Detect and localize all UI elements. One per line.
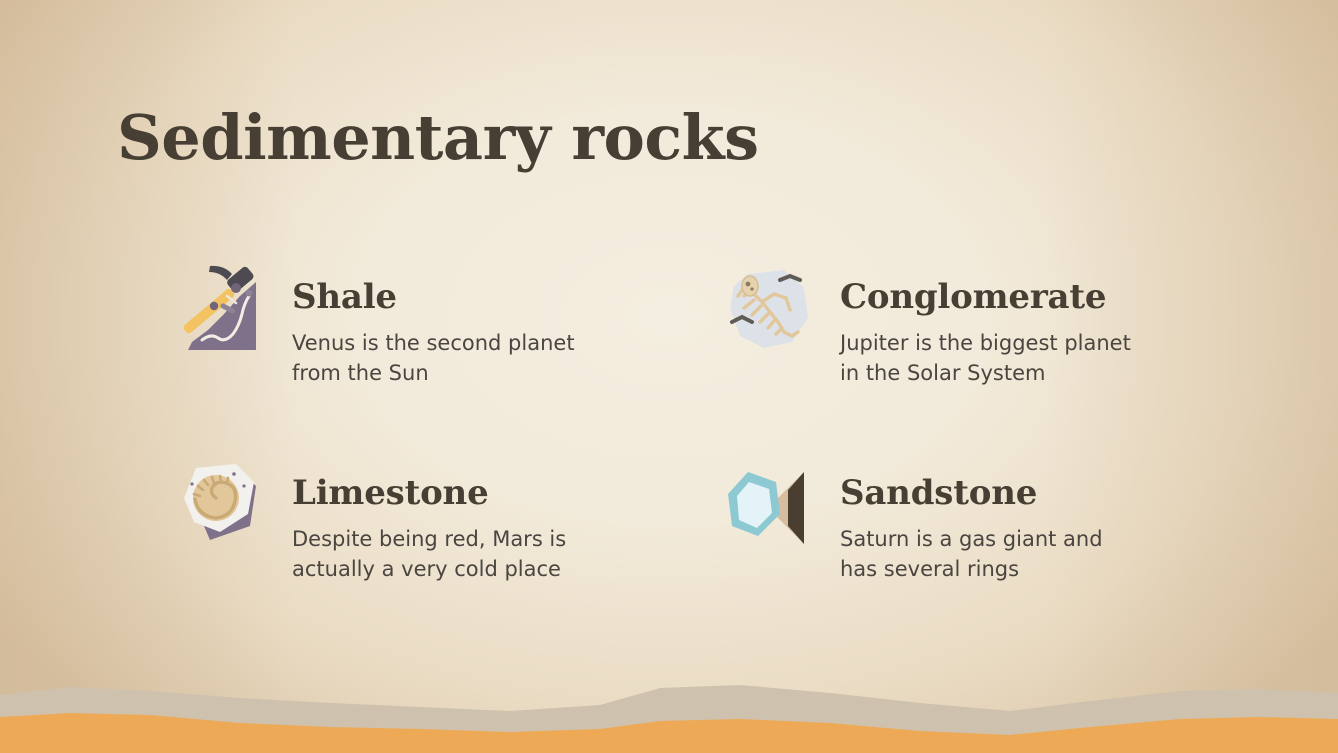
- item-limestone[interactable]: Limestone Despite being red, Mars is act…: [170, 468, 600, 585]
- item-description: Venus is the second planet from the Sun: [292, 328, 592, 389]
- item-text-block: Sandstone Saturn is a gas giant and has …: [822, 468, 1140, 585]
- item-sandstone[interactable]: Sandstone Saturn is a gas giant and has …: [718, 468, 1148, 585]
- item-shale[interactable]: Shale Venus is the second planet from th…: [170, 272, 600, 389]
- gem-crystal-icon: [718, 456, 822, 560]
- item-title: Conglomerate: [840, 280, 1140, 314]
- ammonite-fossil-icon: [170, 456, 274, 560]
- item-title: Sandstone: [840, 476, 1140, 510]
- item-text-block: Limestone Despite being red, Mars is act…: [274, 468, 592, 585]
- item-text-block: Shale Venus is the second planet from th…: [274, 272, 592, 389]
- item-title: Shale: [292, 280, 592, 314]
- item-title: Limestone: [292, 476, 592, 510]
- item-text-block: Conglomerate Jupiter is the biggest plan…: [822, 272, 1140, 389]
- pickaxe-rock-icon: [170, 260, 274, 364]
- item-description: Jupiter is the biggest planet in the Sol…: [840, 328, 1140, 389]
- rock-items-grid: Shale Venus is the second planet from th…: [0, 0, 1338, 753]
- item-description: Despite being red, Mars is actually a ve…: [292, 524, 592, 585]
- slide-canvas: Sedimentary rocks: [0, 0, 1338, 753]
- item-conglomerate[interactable]: Conglomerate Jupiter is the biggest plan…: [718, 272, 1148, 389]
- item-description: Saturn is a gas giant and has several ri…: [840, 524, 1140, 585]
- fossil-skeleton-icon: [718, 260, 822, 364]
